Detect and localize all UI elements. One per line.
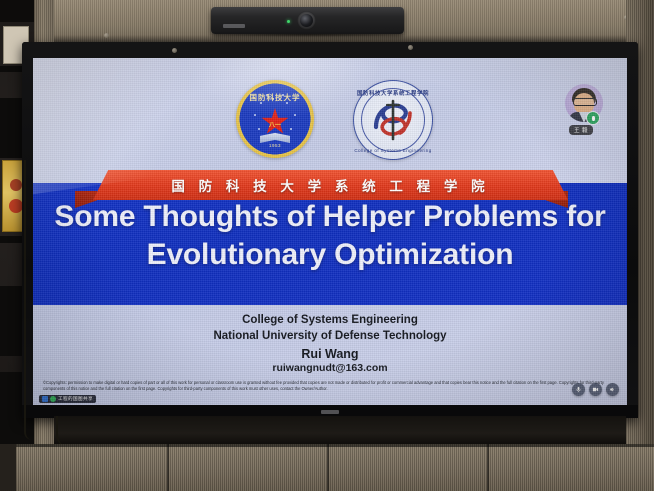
wall-screw	[104, 33, 109, 38]
author-name: Rui Wang	[33, 347, 627, 361]
broadcast-watermark: 工程的国图共享	[39, 395, 96, 403]
lower-cabinet	[0, 444, 654, 491]
power-cable	[24, 160, 36, 440]
watermark-label: 工程的国图共享	[58, 396, 93, 402]
glasses-icon	[573, 98, 597, 106]
nudt-university-seal-icon: 国防科技大学 八一 1953	[236, 80, 314, 158]
microphone-status-icon	[586, 111, 600, 125]
author-email: ruiwangnudt@163.com	[33, 362, 627, 374]
red-ribbon-banner: 国 防 科 技 大 学 系 统 工 程 学 院	[93, 170, 568, 200]
meeting-controls-overlay[interactable]	[572, 383, 619, 396]
college-of-systems-engineering-seal-icon: 国防科技大学系统工程学院 College of Systems Engineer…	[353, 80, 433, 160]
microphone-icon[interactable]	[572, 383, 585, 396]
watermark-app-icon	[42, 396, 48, 402]
cse-emblem-swoosh-icon	[370, 97, 416, 143]
camera-lens-ring	[297, 11, 316, 30]
soundbar-brand-logo	[223, 24, 245, 28]
seal-year: 1953	[269, 143, 281, 148]
bezel-screw	[408, 45, 413, 50]
watermark-mic-icon	[50, 396, 56, 402]
cse-seal-chinese-text: 国防科技大学系统工程学院	[357, 89, 429, 97]
seal-chinese-text: 国防科技大学	[250, 92, 301, 103]
cse-seal-english-text: College of Systems Engineering	[354, 148, 431, 153]
tv-screen-content: 国防科技大学 八一 1953 国防科技大学系统工程学院	[33, 58, 627, 405]
participant-name-label: 王 毅	[569, 125, 593, 135]
seal-star-char: 八一	[269, 120, 281, 129]
speaker-icon[interactable]	[606, 383, 619, 396]
title-line-1: Some Thoughts of Helper Problems for	[33, 198, 627, 236]
camera-lens-icon	[300, 14, 313, 27]
meeting-room-scene: 国防科技大学 八一 1953 国防科技大学系统工程学院	[0, 0, 654, 491]
ribbon-text: 国 防 科 技 大 学 系 统 工 程 学 院	[93, 170, 568, 200]
affiliation-university: National University of Defense Technolog…	[33, 328, 627, 344]
presentation-slide: 国防科技大学 八一 1953 国防科技大学系统工程学院	[33, 58, 627, 405]
title-line-2: Evolutionary Optimization	[33, 236, 627, 274]
bezel-screw	[172, 48, 177, 53]
conference-soundbar-camera	[211, 7, 404, 34]
cabinet-left-shadow	[0, 444, 16, 491]
affiliation-college: College of Systems Engineering	[33, 312, 627, 328]
copyright-notice: ©Copyrights: permission to make digital …	[43, 380, 617, 393]
participant-video-tile[interactable]: 王 毅	[560, 84, 608, 138]
affiliation-block: College of Systems Engineering National …	[33, 312, 627, 374]
under-tv-recess	[54, 416, 626, 445]
television-display: 国防科技大学 八一 1953 国防科技大学系统工程学院	[22, 42, 638, 418]
camera-icon[interactable]	[589, 383, 602, 396]
page-title: Some Thoughts of Helper Problems for Evo…	[33, 198, 627, 275]
tv-brand-logo	[321, 410, 339, 414]
status-led-icon	[287, 20, 290, 23]
